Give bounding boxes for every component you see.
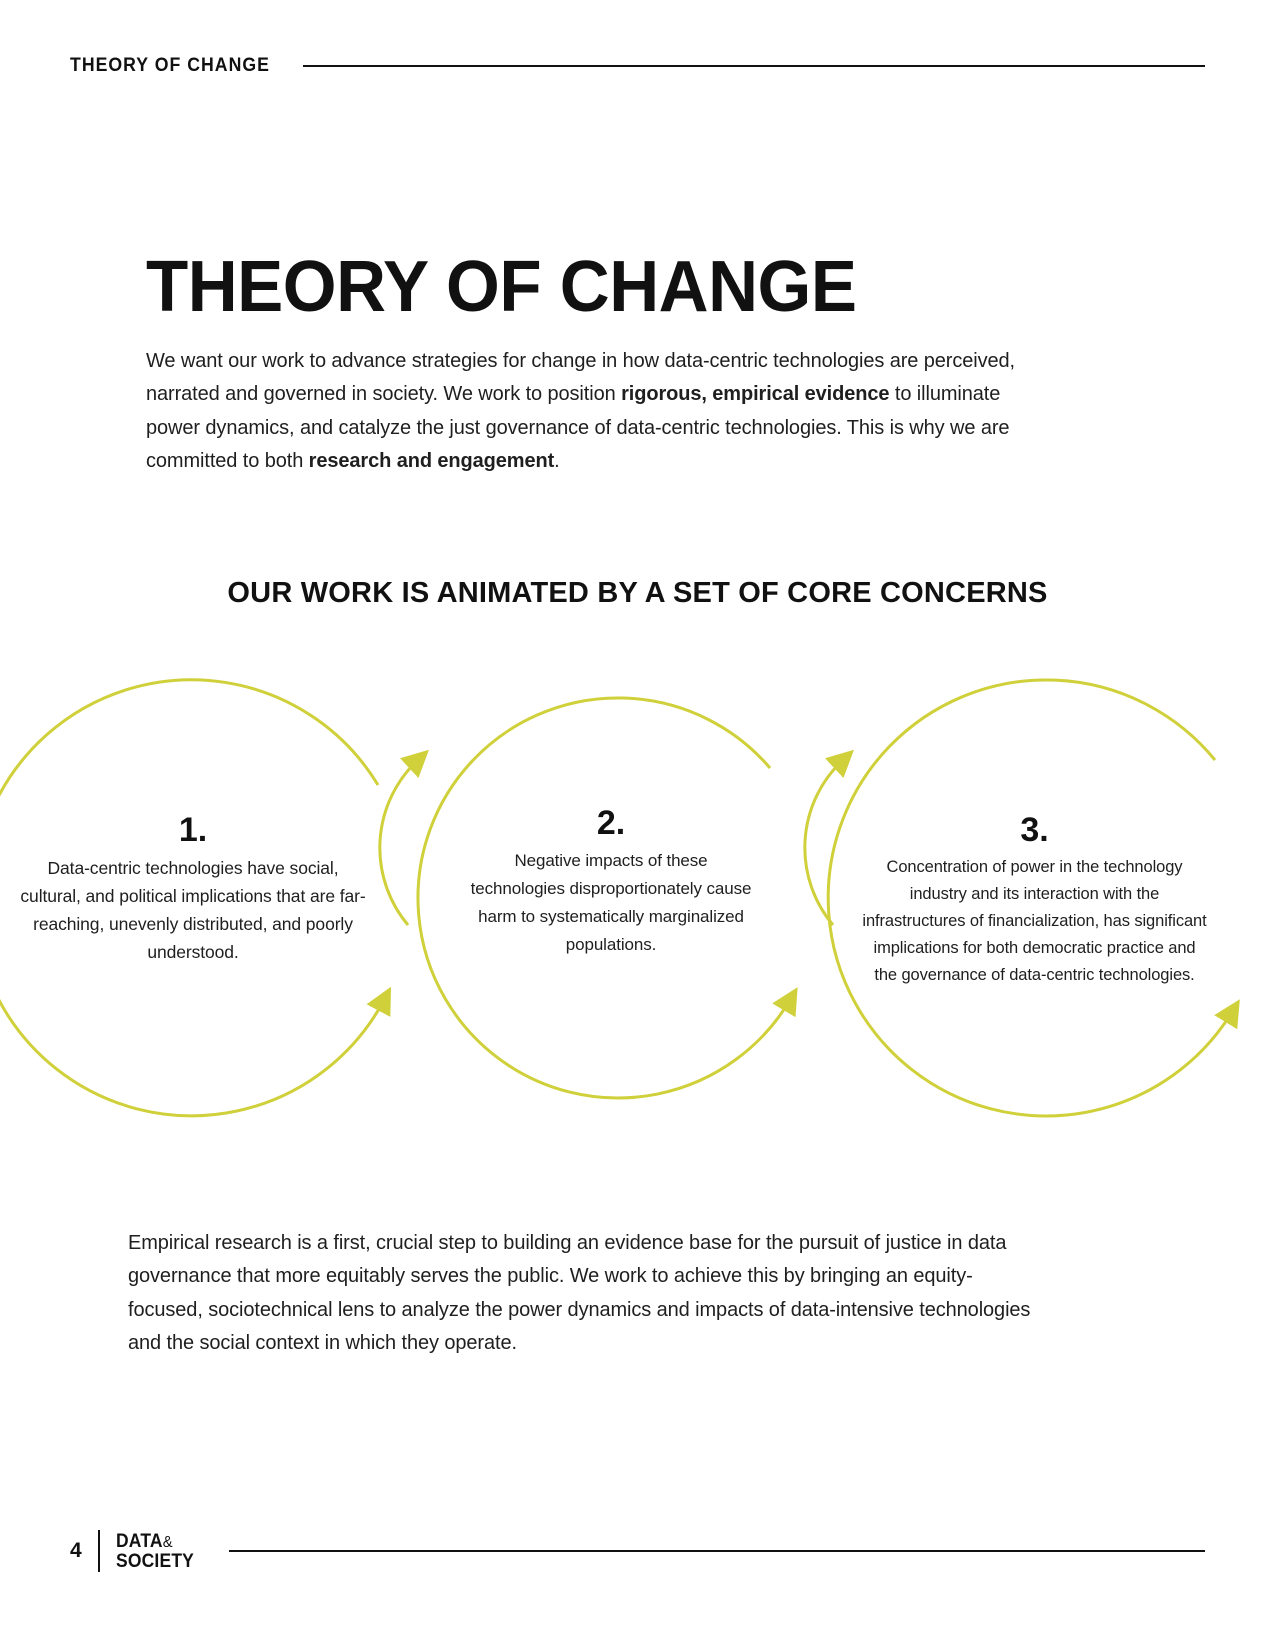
brand-line-1: DATA bbox=[116, 1531, 163, 1552]
page-footer: 4 DATA& SOCIETY bbox=[70, 1530, 1205, 1572]
page-number: 4 bbox=[70, 1539, 82, 1563]
concern-arrow-2-to-3 bbox=[805, 760, 843, 925]
intro-paragraph: We want our work to advance strategies f… bbox=[146, 344, 1048, 478]
closing-paragraph: Empirical research is a first, crucial s… bbox=[128, 1226, 1035, 1360]
intro-emphasis-2: research and engagement bbox=[309, 449, 554, 472]
concern-3: 3. Concentration of power in the technol… bbox=[862, 810, 1207, 989]
intro-emphasis-1: rigorous, empirical evidence bbox=[621, 382, 889, 405]
concern-2-text: Negative impacts of these technologies d… bbox=[466, 847, 756, 959]
footer-divider bbox=[98, 1530, 100, 1572]
page-title: THEORY OF CHANGE bbox=[146, 251, 856, 323]
concern-arrow-1-to-2 bbox=[380, 760, 418, 925]
core-concerns-diagram: 1. Data-centric technologies have social… bbox=[0, 640, 1275, 1160]
concern-1: 1. Data-centric technologies have social… bbox=[18, 810, 368, 966]
brand-line-2: SOCIETY bbox=[116, 1551, 194, 1572]
concern-3-number: 3. bbox=[862, 810, 1207, 850]
footer-rule bbox=[229, 1550, 1206, 1552]
document-page: THEORY OF CHANGE THEORY OF CHANGE We wan… bbox=[0, 0, 1275, 1650]
core-concerns-heading: OUR WORK IS ANIMATED BY A SET OF CORE CO… bbox=[0, 577, 1275, 610]
brand-logo: DATA& SOCIETY bbox=[116, 1532, 194, 1571]
concern-1-number: 1. bbox=[18, 810, 368, 850]
running-header-rule bbox=[303, 65, 1205, 67]
running-header: THEORY OF CHANGE bbox=[70, 55, 1205, 77]
concern-2-number: 2. bbox=[466, 803, 756, 843]
running-header-title: THEORY OF CHANGE bbox=[70, 55, 270, 77]
brand-ampersand: & bbox=[162, 1534, 172, 1551]
concern-3-text: Concentration of power in the technology… bbox=[862, 854, 1207, 989]
concern-1-text: Data-centric technologies have social, c… bbox=[18, 854, 368, 966]
intro-text-3: . bbox=[554, 449, 559, 472]
concern-2: 2. Negative impacts of these technologie… bbox=[466, 803, 756, 959]
